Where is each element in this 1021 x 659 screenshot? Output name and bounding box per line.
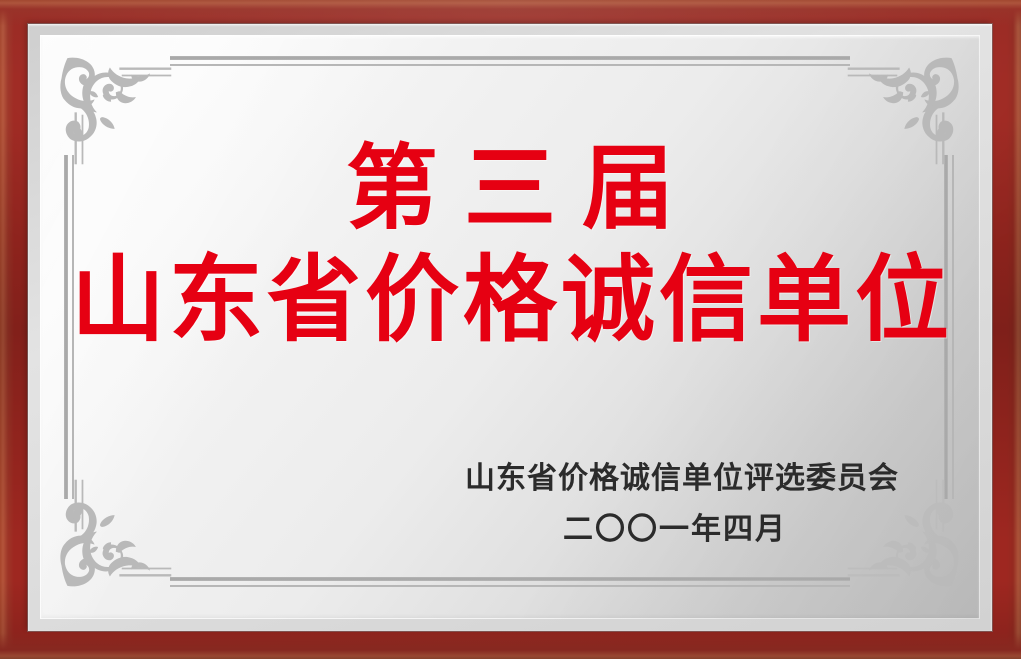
rule-line-bottom — [170, 577, 850, 588]
corner-flourish-ornament-bottom-right — [843, 475, 961, 593]
issue-date: 二〇〇一年四月 — [465, 510, 885, 549]
award-signature-block: 山东省价格诚信单位评选委员会 二〇〇一年四月 — [465, 459, 885, 549]
rule-line-right — [944, 155, 955, 499]
award-title-main: 山东省价格诚信单位 — [40, 248, 980, 353]
award-title-block: 第三届 山东省价格诚信单位 — [40, 139, 980, 354]
corner-flourish-ornament-top-left — [58, 51, 176, 169]
issuing-organization: 山东省价格诚信单位评选委员会 — [465, 459, 885, 498]
award-plaque: 第三届 山东省价格诚信单位 山东省价格诚信单位评选委员会 二〇〇一年四月 — [0, 0, 1021, 659]
silver-plate: 第三届 山东省价格诚信单位 山东省价格诚信单位评选委员会 二〇〇一年四月 — [40, 35, 980, 619]
corner-flourish-ornament-top-right — [843, 51, 961, 169]
rule-line-left — [64, 155, 75, 499]
award-title-edition: 第三届 — [40, 139, 980, 238]
rule-line-top — [170, 56, 850, 67]
plate-metal-sheen — [40, 35, 980, 619]
corner-flourish-ornament-bottom-left — [58, 475, 176, 593]
